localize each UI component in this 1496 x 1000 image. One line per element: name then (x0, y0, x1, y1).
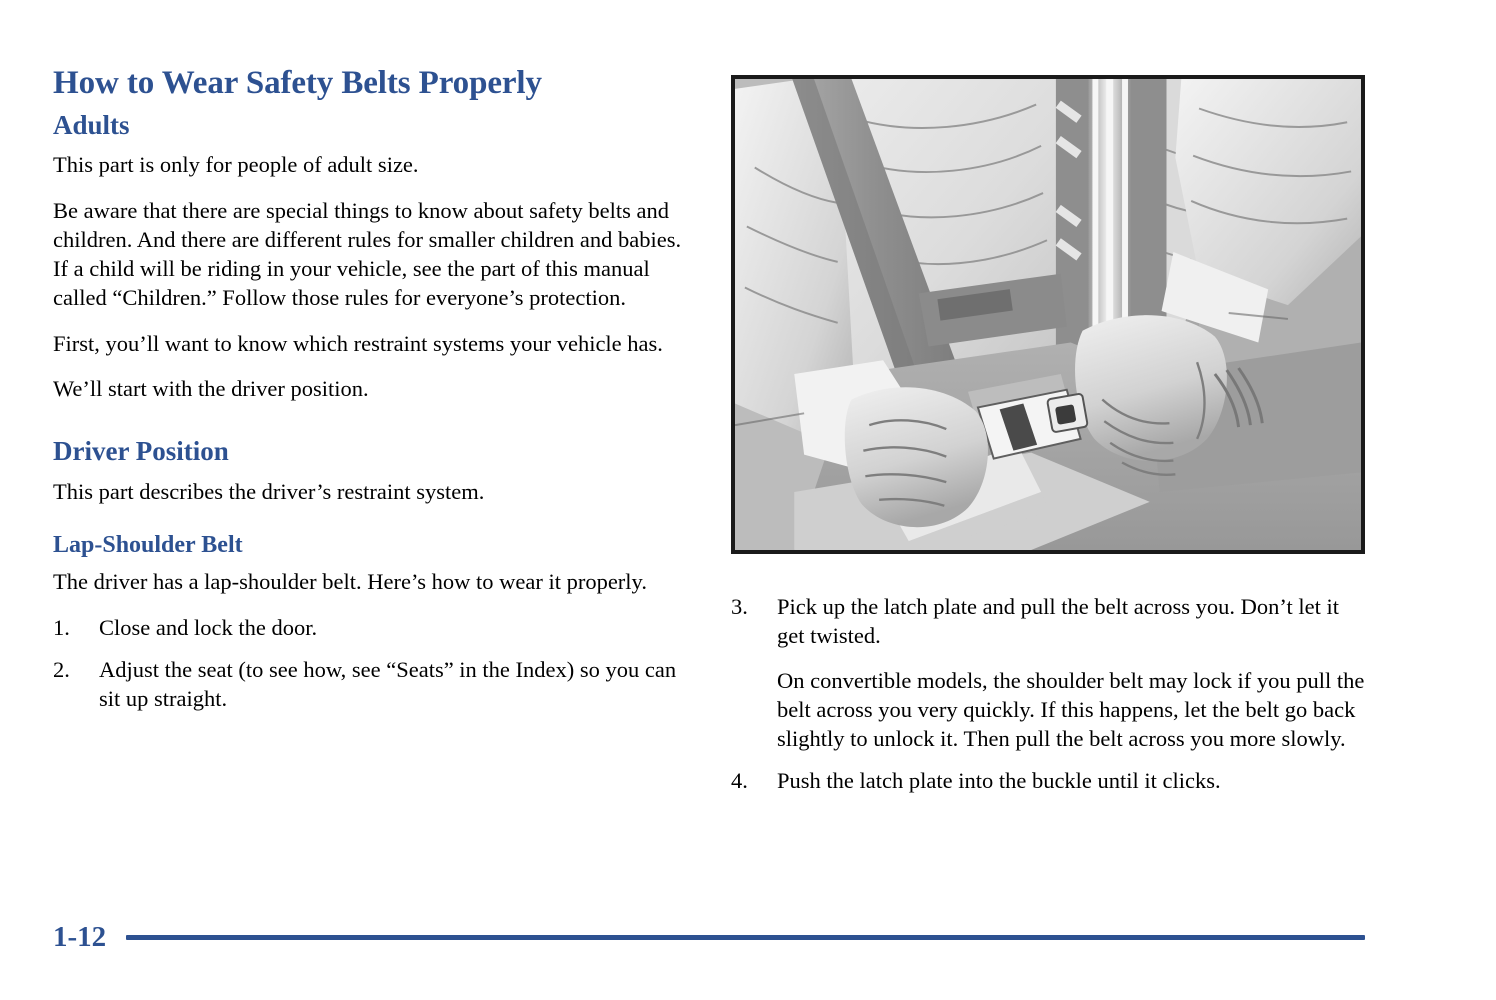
manual-page: How to Wear Safety Belts Properly Adults… (0, 0, 1496, 1000)
footer-rule (126, 935, 1365, 940)
page-number: 1-12 (53, 923, 106, 952)
paragraph-adult-size: This part is only for people of adult si… (53, 150, 693, 179)
list-item: 4. Push the latch plate into the buckle … (731, 766, 1371, 795)
list-item: 3. Pick up the latch plate and pull the … (731, 592, 1371, 753)
paragraph-lap-shoulder-intro: The driver has a lap-shoulder belt. Here… (53, 567, 693, 596)
list-item: 2. Adjust the seat (to see how, see “Sea… (53, 655, 693, 714)
safety-belt-illustration (731, 75, 1365, 554)
paragraph-driver-position-intro: We’ll start with the driver position. (53, 374, 693, 403)
list-item-text: Pick up the latch plate and pull the bel… (777, 594, 1339, 648)
steps-list-right: 3. Pick up the latch plate and pull the … (731, 592, 1371, 796)
page-footer: 1-12 (53, 920, 1365, 954)
section-heading-driver-position: Driver Position (53, 437, 693, 467)
right-column: 3. Pick up the latch plate and pull the … (731, 592, 1371, 796)
list-item-text: Push the latch plate into the buckle unt… (777, 768, 1221, 793)
paragraph-children-rules: Be aware that there are special things t… (53, 196, 693, 313)
list-item-text: Adjust the seat (to see how, see “Seats”… (99, 657, 676, 711)
paragraph-restraint-systems: First, you’ll want to know which restrai… (53, 329, 693, 358)
list-item-number: 2. (53, 655, 83, 684)
section-heading-lap-shoulder-belt: Lap-Shoulder Belt (53, 532, 693, 558)
list-item-sub-paragraph: On convertible models, the shoulder belt… (777, 666, 1371, 754)
list-item-text: Close and lock the door. (99, 615, 317, 640)
left-column: How to Wear Safety Belts Properly Adults… (53, 66, 693, 713)
page-title: How to Wear Safety Belts Properly (53, 66, 693, 102)
paragraph-driver-restraint-system: This part describes the driver’s restrai… (53, 477, 693, 506)
steps-list-left: 1. Close and lock the door. 2. Adjust th… (53, 613, 693, 714)
list-item: 1. Close and lock the door. (53, 613, 693, 642)
list-item-number: 1. (53, 613, 83, 642)
seatbelt-buckle-drawing (735, 79, 1361, 550)
list-item-number: 4. (731, 766, 761, 795)
list-item-number: 3. (731, 592, 761, 621)
section-heading-adults: Adults (53, 111, 693, 141)
